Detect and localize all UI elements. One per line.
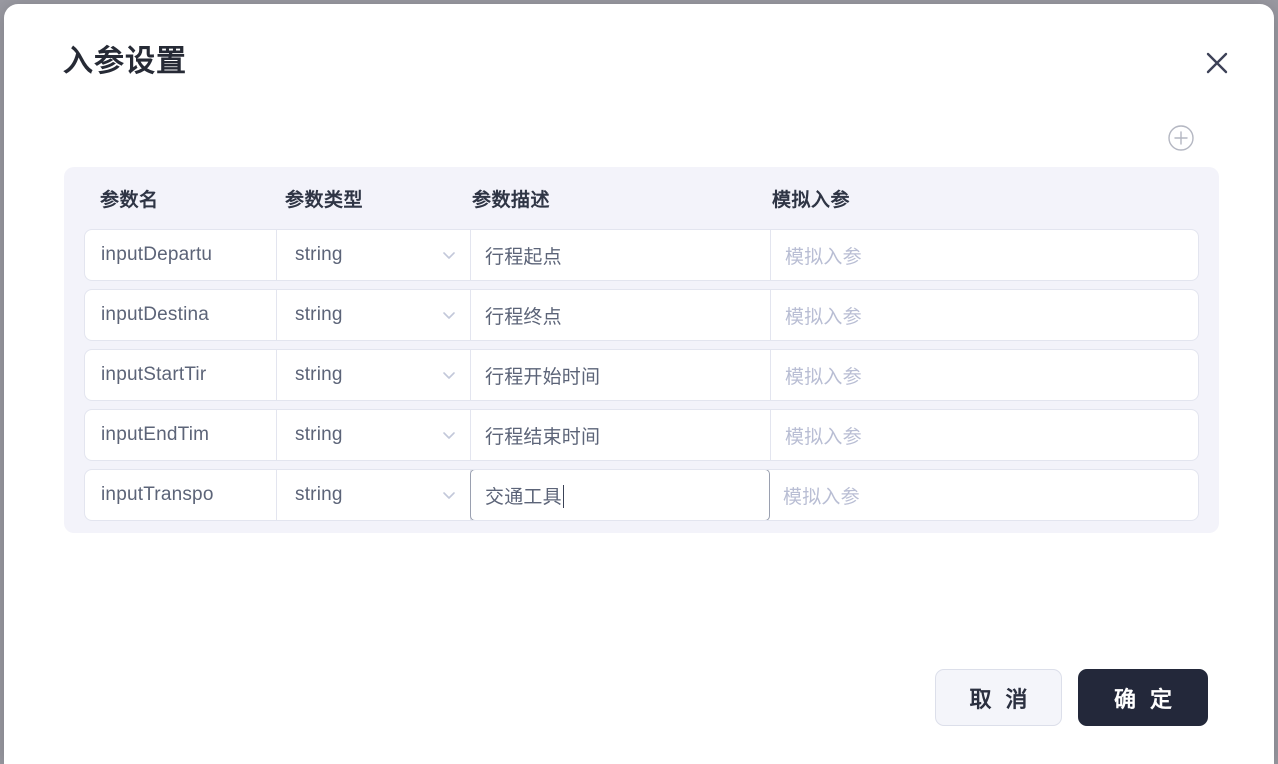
param-desc-input[interactable]: 行程起点: [471, 230, 771, 280]
mock-input[interactable]: 模拟入参: [771, 410, 1198, 460]
table-row: inputTranspo string 交通工具 模拟入参: [84, 469, 1199, 521]
mock-input-placeholder: 模拟入参: [785, 422, 862, 449]
param-type-select[interactable]: string: [277, 470, 471, 520]
mock-input-placeholder: 模拟入参: [785, 302, 862, 329]
column-header-mock-input: 模拟入参: [752, 185, 1146, 212]
param-type-select[interactable]: string: [277, 410, 471, 460]
mock-input[interactable]: 模拟入参: [771, 350, 1198, 400]
table-row: inputDestina string 行程终点 模拟入参: [84, 289, 1199, 341]
mock-input[interactable]: 模拟入参: [771, 230, 1198, 280]
table-row: inputDepartu string 行程起点 模拟入参: [84, 229, 1199, 281]
table-row: inputStartTir string 行程开始时间 模拟入参: [84, 349, 1199, 401]
page-title: 入参设置: [63, 40, 187, 84]
param-type-select[interactable]: string: [277, 230, 471, 280]
input-parameter-settings-dialog: 入参设置 参数名 参数类型 参数描述 模拟入参 inputDep: [4, 4, 1274, 764]
param-desc-value: 行程结束时间: [485, 422, 600, 449]
mock-input[interactable]: 模拟入参: [771, 290, 1198, 340]
param-desc-input[interactable]: 行程结束时间: [471, 410, 771, 460]
close-icon: [1203, 49, 1231, 77]
chevron-down-icon: [440, 426, 458, 444]
param-type-value: string: [295, 304, 343, 326]
dialog-footer: 取 消 确 定: [935, 669, 1208, 726]
column-header-param-type: 参数类型: [258, 185, 452, 212]
plus-circle-icon: [1167, 124, 1195, 152]
close-button[interactable]: [1198, 44, 1236, 82]
add-parameter-button[interactable]: [1166, 123, 1196, 153]
param-desc-value: 交通工具: [485, 482, 562, 509]
param-type-value: string: [295, 424, 343, 446]
param-name-value: inputDepartu: [101, 244, 212, 266]
param-name-value: inputDestina: [101, 304, 209, 326]
table-row: inputEndTim string 行程结束时间 模拟入参: [84, 409, 1199, 461]
param-name-value: inputTranspo: [101, 484, 214, 506]
param-desc-input[interactable]: 行程终点: [471, 290, 771, 340]
param-desc-value: 行程开始时间: [485, 362, 600, 389]
confirm-button[interactable]: 确 定: [1078, 669, 1208, 726]
mock-input-placeholder: 模拟入参: [785, 362, 862, 389]
column-header-param-desc: 参数描述: [452, 185, 752, 212]
param-type-select[interactable]: string: [277, 290, 471, 340]
chevron-down-icon: [440, 486, 458, 504]
param-name-value: inputStartTir: [101, 364, 206, 386]
param-desc-input[interactable]: 行程开始时间: [471, 350, 771, 400]
mock-input-placeholder: 模拟入参: [785, 242, 862, 269]
param-name-input[interactable]: inputEndTim: [85, 410, 277, 460]
chevron-down-icon: [440, 246, 458, 264]
param-desc-value: 行程起点: [485, 242, 562, 269]
chevron-down-icon: [440, 366, 458, 384]
cancel-button[interactable]: 取 消: [935, 669, 1062, 726]
table-body: inputDepartu string 行程起点 模拟入参: [64, 229, 1219, 533]
param-type-value: string: [295, 364, 343, 386]
param-name-value: inputEndTim: [101, 424, 209, 446]
chevron-down-icon: [440, 306, 458, 324]
mock-input[interactable]: 模拟入参: [769, 470, 1198, 520]
param-name-input[interactable]: inputStartTir: [85, 350, 277, 400]
param-type-select[interactable]: string: [277, 350, 471, 400]
mock-input-placeholder: 模拟入参: [783, 482, 860, 509]
table-header-row: 参数名 参数类型 参数描述 模拟入参: [64, 167, 1219, 229]
text-cursor: [563, 485, 565, 508]
param-desc-value: 行程终点: [485, 302, 562, 329]
param-type-value: string: [295, 244, 343, 266]
param-name-input[interactable]: inputDestina: [85, 290, 277, 340]
param-desc-input-focused[interactable]: 交通工具: [470, 469, 770, 521]
param-name-input[interactable]: inputTranspo: [85, 470, 277, 520]
param-type-value: string: [295, 484, 343, 506]
parameter-table: 参数名 参数类型 参数描述 模拟入参 inputDepartu string: [64, 167, 1219, 533]
param-name-input[interactable]: inputDepartu: [85, 230, 277, 280]
column-header-param-name: 参数名: [64, 185, 258, 212]
